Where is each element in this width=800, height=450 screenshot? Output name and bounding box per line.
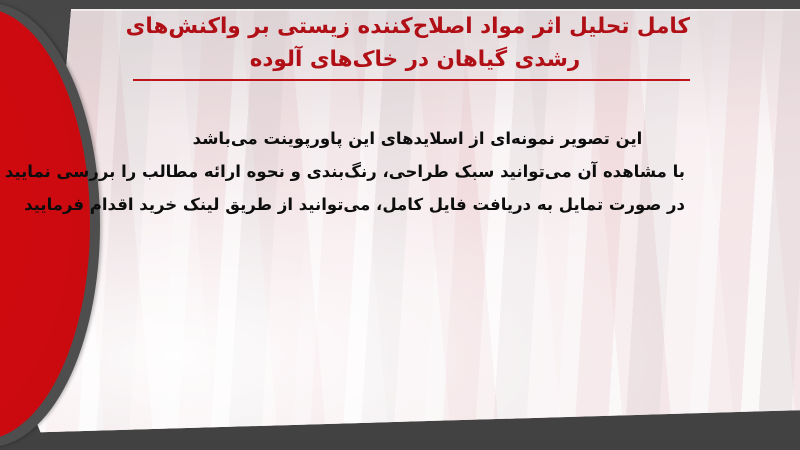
panel-top-highlight-edge bbox=[36, 9, 800, 11]
panel-light-wash bbox=[36, 9, 800, 434]
panel-band-pattern-primary bbox=[36, 9, 800, 434]
presentation-slide: کامل تحلیل اثر مواد اصلاح‌کننده زیستی بر… bbox=[0, 0, 800, 450]
slide-content-panel bbox=[36, 9, 800, 434]
panel-band-pattern-secondary bbox=[36, 9, 800, 434]
